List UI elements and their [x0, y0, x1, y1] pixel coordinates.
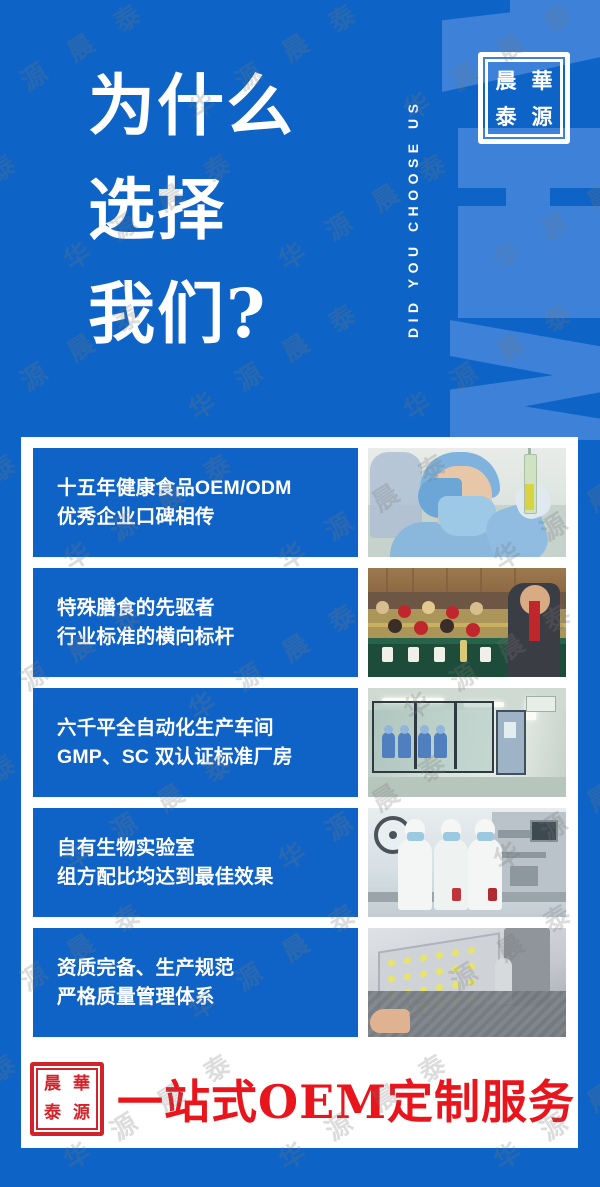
- feature-text-card: 特殊膳食的先驱者 行业标准的横向标杆: [33, 568, 358, 677]
- page-title: 为什么 选择 我们?: [88, 54, 388, 366]
- seal-char-1: 晨: [38, 1070, 67, 1099]
- feature-photo-cleanroom-corridor: [368, 688, 566, 797]
- feature-photo-qc-technician: [368, 448, 566, 557]
- feature-line-1: 特殊膳食的先驱者: [57, 594, 358, 623]
- feature-row: 十五年健康食品OEM/ODM 优秀企业口碑相传: [33, 448, 566, 557]
- feature-line-2: 组方配比均达到最佳效果: [57, 863, 358, 892]
- feature-line-1: 十五年健康食品OEM/ODM: [57, 474, 358, 503]
- headline-line-3: 我们?: [88, 262, 388, 366]
- vertical-caption: DID YOU CHOOSE US: [405, 18, 431, 418]
- feature-text-card: 十五年健康食品OEM/ODM 优秀企业口碑相传: [33, 448, 358, 557]
- features-panel: 十五年健康食品OEM/ODM 优秀企业口碑相传 特殊膳食的先驱者 行业标准的横向…: [21, 437, 578, 1148]
- feature-photo-capsule-tray: [368, 928, 566, 1037]
- company-seal-icon: 晨 華 泰 源: [478, 52, 570, 144]
- watermark-text: 华 源 晨 泰: [0, 140, 31, 278]
- feature-row: 自有生物实验室 组方配比均达到最佳效果: [33, 808, 566, 917]
- feature-row: 特殊膳食的先驱者 行业标准的横向标杆: [33, 568, 566, 677]
- feature-photo-lab-production-line: [368, 808, 566, 917]
- feature-photo-conference-hall: [368, 568, 566, 677]
- feature-row: 资质完备、生产规范 严格质量管理体系: [33, 928, 566, 1037]
- seal-char-3: 泰: [38, 1099, 67, 1128]
- watermark-text: 华 源 晨 泰: [485, 140, 600, 278]
- poster-root: DID YOU CHOOSE US 晨 華 泰 源 为什么 选择 我们? 十五年…: [0, 0, 600, 1187]
- feature-line-1: 自有生物实验室: [57, 834, 358, 863]
- footer-banner: 一站式OEM定制服务: [21, 1055, 578, 1148]
- feature-text-card: 资质完备、生产规范 严格质量管理体系: [33, 928, 358, 1037]
- feature-line-1: 六千平全自动化生产车间: [57, 714, 358, 743]
- feature-row: 六千平全自动化生产车间 GMP、SC 双认证标准厂房: [33, 688, 566, 797]
- footer-tagline: 一站式OEM定制服务: [117, 1079, 575, 1125]
- features-list: 十五年健康食品OEM/ODM 优秀企业口碑相传 特殊膳食的先驱者 行业标准的横向…: [33, 448, 566, 1037]
- feature-line-2: 行业标准的横向标杆: [57, 623, 358, 652]
- seal-char-4: 源: [524, 98, 560, 134]
- seal-char-2: 華: [67, 1070, 96, 1099]
- seal-inner-grid: 晨 華 泰 源: [485, 59, 563, 137]
- feature-text-card: 自有生物实验室 组方配比均达到最佳效果: [33, 808, 358, 917]
- company-seal-icon-red: 晨 華 泰 源: [30, 1062, 104, 1136]
- seal-char-3: 泰: [488, 98, 524, 134]
- feature-line-1: 资质完备、生产规范: [57, 954, 358, 983]
- headline-line-2: 选择: [88, 158, 388, 262]
- feature-line-2: 优秀企业口碑相传: [57, 503, 358, 532]
- headline-line-1: 为什么: [88, 54, 388, 158]
- seal-char-2: 華: [524, 62, 560, 98]
- seal-inner-grid: 晨 華 泰 源: [36, 1068, 98, 1130]
- feature-text-card: 六千平全自动化生产车间 GMP、SC 双认证标准厂房: [33, 688, 358, 797]
- feature-line-2: GMP、SC 双认证标准厂房: [57, 743, 358, 772]
- seal-char-1: 晨: [488, 62, 524, 98]
- seal-char-4: 源: [67, 1099, 96, 1128]
- feature-line-2: 严格质量管理体系: [57, 983, 358, 1012]
